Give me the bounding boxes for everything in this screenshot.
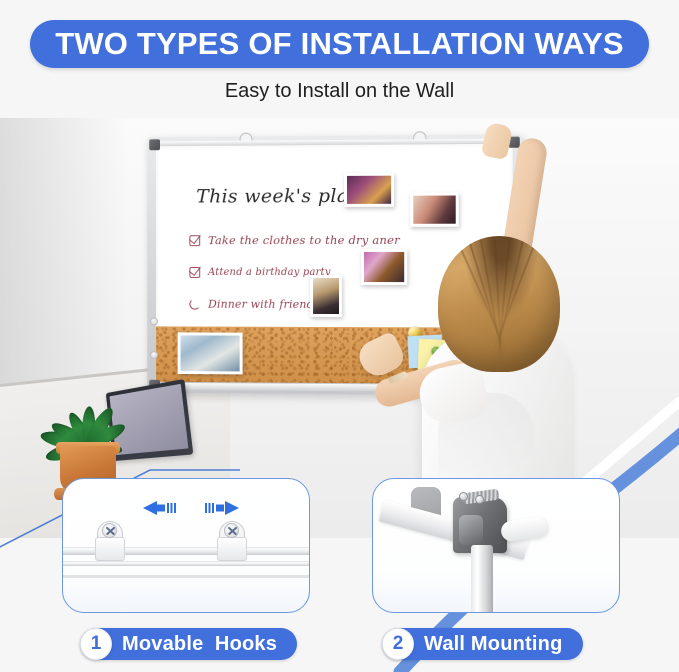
photo-image <box>181 335 240 371</box>
panel-label-1: Movable Hooks 1 <box>80 628 297 660</box>
header-banner: TWO TYPES OF INSTALLATION WAYS <box>30 20 649 68</box>
panel-label-text: Wall Mounting <box>424 633 563 656</box>
checkbox-checked-icon <box>189 267 200 278</box>
wall-mount-bracket-assembly <box>445 493 565 603</box>
party-photo-portrait <box>310 275 342 317</box>
screw-icon <box>459 492 468 501</box>
panel-movable-hooks <box>62 478 310 613</box>
photo-image <box>313 278 339 314</box>
checklist-item: Take the clothes to the dry aner <box>189 233 438 247</box>
head-back-of-hair <box>438 236 560 372</box>
mounting-knob <box>500 516 549 543</box>
photo-image <box>347 176 391 204</box>
screw-icon <box>102 523 117 538</box>
hero-scene: This week's planv Take the clothes to th… <box>0 118 679 538</box>
panel-label-2: Wall Mounting 2 <box>382 628 583 660</box>
photo-image <box>364 252 404 282</box>
rail <box>62 561 310 566</box>
screw-icon <box>475 495 484 504</box>
hanging-loop-icon <box>240 133 253 141</box>
frame-screw-icon <box>150 351 158 359</box>
hook-band <box>217 537 247 561</box>
vertical-post <box>471 545 493 613</box>
frame-corner <box>149 139 160 150</box>
panel-number-badge: 2 <box>382 628 414 660</box>
panel-wall-mounting <box>372 478 620 613</box>
page-subtitle: Easy to Install on the Wall <box>0 80 679 103</box>
party-photo-balloons <box>361 249 407 285</box>
page-title: TWO TYPES OF INSTALLATION WAYS <box>55 26 624 62</box>
panel-number-badge: 1 <box>80 628 112 660</box>
movable-hook-left <box>93 521 127 561</box>
checkbox-checked-icon <box>189 235 200 246</box>
slide-arrows-icon <box>141 499 241 517</box>
checklist-item-label: Dinner with friends <box>208 298 320 311</box>
frame-screw-icon <box>150 317 158 325</box>
screw-icon <box>224 523 239 538</box>
party-photo-crowd <box>344 173 394 207</box>
movable-hook-right <box>215 521 249 561</box>
hook-band <box>95 537 125 561</box>
label-pill: Movable Hooks <box>80 628 297 660</box>
product-infographic: TWO TYPES OF INSTALLATION WAYS Easy to I… <box>0 0 679 672</box>
checklist-item-label: Take the clothes to the dry aner <box>208 233 400 247</box>
panel-label-text: Movable Hooks <box>122 633 277 656</box>
cork-family-photo <box>178 332 243 374</box>
rail <box>62 575 310 578</box>
checkbox-empty-icon <box>189 299 200 310</box>
hook-rail-assembly <box>63 539 309 583</box>
